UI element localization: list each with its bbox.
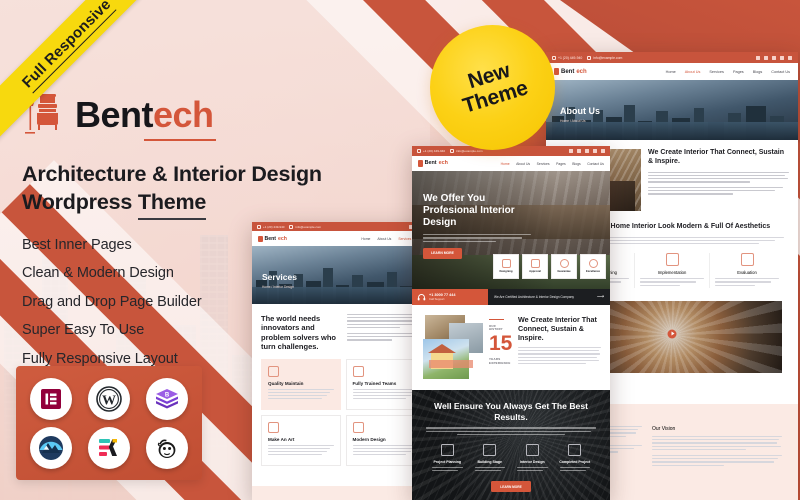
- topbar-email: info@example.com: [456, 149, 483, 153]
- about-heading: We Create Interior That Connect, Sustain…: [518, 315, 601, 342]
- nav-item-about[interactable]: About Us: [685, 70, 701, 74]
- service-card-title: Modern Design: [353, 437, 419, 442]
- feature-title: Implementation: [640, 270, 704, 275]
- service-card-strip: Designing Approval Guarantee Excellence: [493, 254, 606, 279]
- behance-icon[interactable]: [593, 149, 597, 153]
- step-item: Interior Design: [511, 444, 554, 473]
- nav-item-contact[interactable]: Contact Us: [587, 162, 604, 166]
- revolution-slider-icon[interactable]: [30, 427, 72, 469]
- step-item: Project Planning: [426, 444, 469, 473]
- service-mini-title: Excellence: [584, 270, 602, 273]
- about-heading: We Create Interior That Connect, Sustain…: [648, 149, 789, 167]
- svg-text:B: B: [165, 392, 170, 398]
- twitter-icon[interactable]: [577, 149, 581, 153]
- sofa-icon: [353, 422, 364, 433]
- linkedin-icon[interactable]: [585, 149, 589, 153]
- years-label-2: EXPERIENCE: [489, 361, 512, 365]
- feature-item: Fully Responsive Layout: [22, 351, 382, 367]
- home-page-mockup[interactable]: +1 (20) 449-940 info@example.com Bentech…: [412, 146, 610, 500]
- service-card-title: Quality Maintain: [268, 381, 334, 386]
- svg-text:W: W: [102, 393, 116, 408]
- feature-col: Implementation: [635, 253, 710, 287]
- service-mini-title: Designing: [497, 270, 515, 273]
- about-eyebrow-2: HISTORY: [489, 328, 512, 331]
- play-button-icon[interactable]: [668, 329, 677, 338]
- brand-name-second: ech: [153, 94, 214, 135]
- feature-col: Evaluation: [710, 253, 784, 287]
- twitter-icon[interactable]: [764, 56, 768, 60]
- services-footer-strip: [252, 486, 434, 500]
- service-mini-card[interactable]: Designing: [493, 254, 519, 279]
- step-title: Building Stage: [469, 460, 512, 464]
- brand-logo-text: Bentech: [75, 97, 214, 133]
- brand-name-first: Bent: [75, 94, 153, 135]
- service-mini-title: Guarantee: [555, 270, 573, 273]
- mock-logo-first: Bent: [561, 69, 574, 75]
- stamp-icon: [531, 259, 540, 268]
- feature-item: Drag and Drop Page Builder: [22, 294, 382, 310]
- service-card[interactable]: Make An Art: [261, 415, 341, 466]
- step-item: Completed Project: [554, 444, 597, 473]
- mock-logo-second: ech: [576, 69, 586, 75]
- medal-icon: [560, 259, 569, 268]
- implementation-icon: [666, 253, 679, 266]
- topbar-phone: +1 (20) 449-940: [558, 56, 582, 60]
- step-title: Completed Project: [554, 460, 597, 464]
- mock-logo-first: Bent: [425, 160, 437, 166]
- marquee-text: We Are Certified Architecture & Interior…: [494, 295, 574, 299]
- interior-icon: [526, 444, 539, 456]
- hero-learn-more-button[interactable]: LEARN MORE: [423, 248, 462, 259]
- service-mini-card[interactable]: Excellence: [580, 254, 606, 279]
- nav-item-home[interactable]: Home: [501, 162, 510, 166]
- nav-item-services[interactable]: Services: [709, 70, 724, 74]
- home-about-section: OUR HISTORY 15 YEARS EXPERIENCE We Creat…: [412, 305, 610, 374]
- nav-item-pages[interactable]: Pages: [556, 162, 566, 166]
- award-icon: [589, 259, 598, 268]
- results-learn-more-button[interactable]: LEARN MORE: [491, 481, 531, 492]
- about-hero-title: About Us: [560, 106, 600, 117]
- palette-icon: [268, 422, 279, 433]
- years-number: 15: [489, 333, 512, 354]
- call-support-block[interactable]: +1 3000 77 444 Call Support: [412, 289, 488, 305]
- promo-left-column: Bentech Architecture & Interior Design W…: [22, 92, 382, 379]
- nav-item-blogs[interactable]: Blogs: [753, 70, 763, 74]
- service-card-title: Make An Art: [268, 437, 334, 442]
- nav-item-about[interactable]: About Us: [516, 162, 530, 166]
- wordpress-icon[interactable]: W: [88, 378, 130, 420]
- new-theme-badge: New Theme: [430, 25, 555, 150]
- support-marquee-bar: +1 3000 77 444 Call Support We Are Certi…: [412, 289, 610, 305]
- mock-logo-second: ech: [439, 160, 448, 166]
- home-exterior-photo: [423, 339, 469, 379]
- facebook-icon[interactable]: [756, 56, 760, 60]
- behance-icon[interactable]: [780, 56, 784, 60]
- poster-stage: Full Responsive: [0, 0, 800, 500]
- topbar-phone: +1 (20) 449-940: [423, 149, 445, 153]
- brand-underline: [144, 139, 216, 142]
- about-breadcrumb: Home / About Us: [560, 119, 600, 123]
- service-card-title: Fully Trained Teams: [353, 381, 419, 386]
- nav-item-services[interactable]: Services: [398, 237, 411, 241]
- nav-item-blogs[interactable]: Blogs: [572, 162, 580, 166]
- feature-list: Best Inner Pages Clean & Modern Design D…: [22, 237, 382, 367]
- support-label: Call Support: [429, 297, 456, 301]
- nav-item-contact[interactable]: Contact Us: [771, 70, 790, 74]
- headline-highlight: Theme: [138, 190, 206, 220]
- home-hero-title: We Offer You Profesional Interior Design: [423, 193, 531, 229]
- instagram-icon[interactable]: [788, 56, 792, 60]
- evaluation-icon: [741, 253, 754, 266]
- results-heading: Well Ensure You Always Get The Best Resu…: [426, 401, 596, 422]
- mailchimp-icon[interactable]: [146, 427, 188, 469]
- nav-item-services[interactable]: Services: [537, 162, 550, 166]
- complete-icon: [568, 444, 581, 456]
- step-title: Project Planning: [426, 460, 469, 464]
- phone-icon: [552, 56, 556, 60]
- elementskit-icon[interactable]: [88, 427, 130, 469]
- instagram-icon[interactable]: [601, 149, 605, 153]
- feature-item: Super Easy To Use: [22, 322, 382, 338]
- arrow-right-icon[interactable]: ⟶: [597, 294, 604, 300]
- service-mini-card[interactable]: Approval: [522, 254, 548, 279]
- nav-item-home[interactable]: Home: [666, 70, 676, 74]
- headline-line-2: Wordpress: [22, 190, 138, 214]
- brand-logo: Bentech: [22, 92, 382, 138]
- facebook-icon[interactable]: [569, 149, 573, 153]
- bootstrap-icon[interactable]: B: [146, 378, 188, 420]
- home-hero: We Offer You Profesional Interior Design…: [412, 171, 610, 289]
- mail-icon: [587, 56, 591, 60]
- building-icon: [483, 444, 496, 456]
- tech-badge-panel: W B: [16, 366, 202, 480]
- pencil-ruler-icon: [502, 259, 511, 268]
- vision-title: Our Vision: [652, 426, 782, 432]
- step-item: Building Stage: [469, 444, 512, 473]
- elementor-icon[interactable]: [30, 378, 72, 420]
- page-title: Architecture & Interior Design Wordpress…: [22, 160, 352, 217]
- feature-item: Best Inner Pages: [22, 237, 382, 253]
- marquee-block: We Are Certified Architecture & Interior…: [488, 289, 610, 305]
- feature-item: Clean & Modern Design: [22, 265, 382, 281]
- phone-icon: [417, 149, 421, 153]
- nav-item-pages[interactable]: Pages: [733, 70, 744, 74]
- results-dark-section: Well Ensure You Always Get The Best Resu…: [412, 390, 610, 500]
- about-hero: About Us Home / About Us: [546, 80, 798, 140]
- headset-icon: [417, 293, 426, 302]
- headline-line-1: Architecture & Interior Design: [22, 160, 352, 188]
- service-mini-card[interactable]: Guarantee: [551, 254, 577, 279]
- blueprint-icon: [441, 444, 454, 456]
- mail-icon: [450, 149, 454, 153]
- service-mini-title: Approval: [526, 270, 544, 273]
- topbar-email: info@example.com: [593, 56, 622, 60]
- step-title: Interior Design: [511, 460, 554, 464]
- feature-title: Evaluation: [715, 270, 779, 275]
- linkedin-icon[interactable]: [772, 56, 776, 60]
